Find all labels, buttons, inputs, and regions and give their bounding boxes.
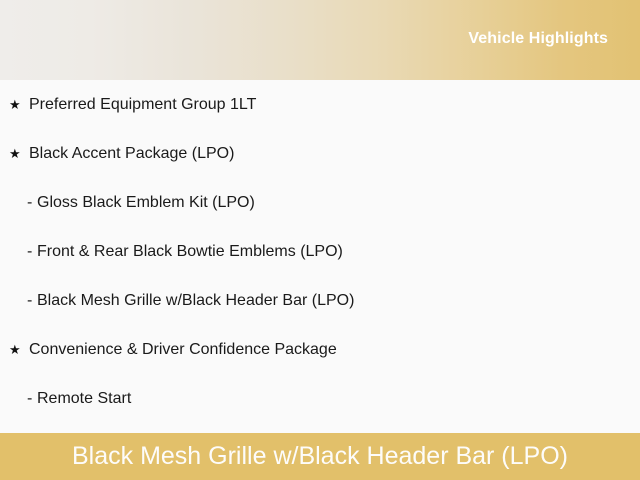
dash-bullet-icon: -: [27, 293, 37, 309]
list-item-label: Black Accent Package (LPO): [29, 144, 234, 163]
vehicle-highlights-slide: Vehicle Highlights ★Preferred Equipment …: [0, 0, 640, 480]
list-item-label: Convenience & Driver Confidence Package: [29, 340, 337, 359]
dash-bullet-icon: -: [27, 244, 37, 260]
list-item-label: Front & Rear Black Bowtie Emblems (LPO): [37, 242, 343, 261]
list-item: -Black Mesh Grille w/Black Header Bar (L…: [0, 276, 640, 325]
footer-caption-text: Black Mesh Grille w/Black Header Bar (LP…: [72, 444, 568, 469]
dash-bullet-icon: -: [27, 195, 37, 211]
list-item: -Remote Start: [0, 374, 640, 423]
star-bullet-icon: ★: [9, 343, 29, 356]
list-item: ★Black Accent Package (LPO): [0, 129, 640, 178]
list-item-label: Black Mesh Grille w/Black Header Bar (LP…: [37, 291, 354, 310]
list-item-label: Remote Start: [37, 389, 131, 408]
list-item-label: Preferred Equipment Group 1LT: [29, 95, 256, 114]
footer-caption-bar: Black Mesh Grille w/Black Header Bar (LP…: [0, 433, 640, 480]
list-item-label: Gloss Black Emblem Kit (LPO): [37, 193, 255, 212]
dash-bullet-icon: -: [27, 391, 37, 407]
star-bullet-icon: ★: [9, 147, 29, 160]
header-banner: Vehicle Highlights: [0, 0, 640, 80]
page-title: Vehicle Highlights: [468, 30, 608, 48]
list-item: -Gloss Black Emblem Kit (LPO): [0, 178, 640, 227]
star-bullet-icon: ★: [9, 98, 29, 111]
highlights-list: ★Preferred Equipment Group 1LT★Black Acc…: [0, 80, 640, 433]
list-item: ★Convenience & Driver Confidence Package: [0, 325, 640, 374]
list-item: ★Preferred Equipment Group 1LT: [0, 80, 640, 129]
list-item: -Front & Rear Black Bowtie Emblems (LPO): [0, 227, 640, 276]
